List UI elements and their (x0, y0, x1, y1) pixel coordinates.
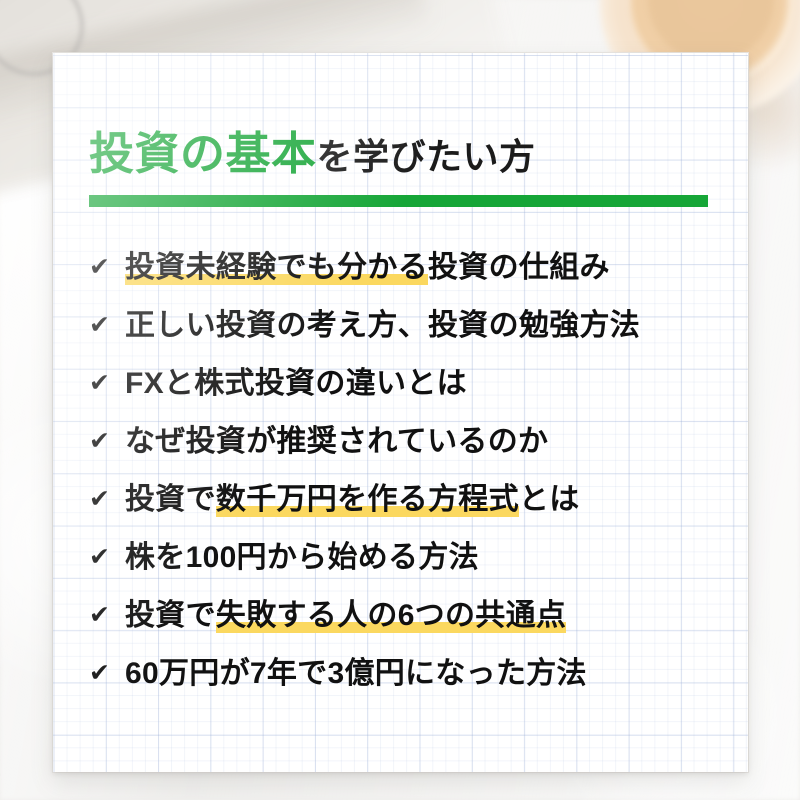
plain-text: FXと株式投資の違いとは (125, 367, 467, 400)
list-item: ✔60万円が7年で3億円になった方法 (89, 645, 719, 703)
list-item: ✔FXと株式投資の違いとは (89, 355, 719, 413)
grid-paper-card: 投資の基本を学びたい方 ✔投資未経験でも分かる投資の仕組み✔正しい投資の考え方、… (53, 53, 748, 772)
plain-text: 投資で (125, 599, 216, 632)
list-item-label: 株を100円から始める方法 (125, 541, 479, 576)
list-item: ✔投資で数千万円を作る方程式とは (89, 471, 719, 529)
page-title-rest-text: を学びたい方 (317, 136, 536, 177)
check-icon: ✔ (89, 371, 119, 396)
highlighted-text: 数千万円を作る方程式 (216, 483, 519, 517)
list-item: ✔投資未経験でも分かる投資の仕組み (89, 239, 719, 297)
screenshot-stage: 投資の基本を学びたい方 ✔投資未経験でも分かる投資の仕組み✔正しい投資の考え方、… (0, 0, 800, 800)
page-title-highlight-text: 投資の基本 (89, 128, 317, 179)
list-item-label: 投資未経験でも分かる投資の仕組み (125, 251, 610, 286)
list-item-label: 投資で数千万円を作る方程式とは (125, 483, 580, 518)
plain-text: なぜ投資が推奨されているのか (125, 425, 548, 458)
plain-text: 投資の仕組み (428, 251, 610, 284)
highlighted-text: 投資未経験でも分かる (125, 251, 428, 285)
list-item-label: 投資で失敗する人の6つの共通点 (125, 599, 566, 634)
plain-text: 60万円が7年で3億円になった方法 (125, 657, 587, 690)
plain-text: とは (519, 483, 580, 516)
check-icon: ✔ (89, 313, 119, 338)
list-item: ✔正しい投資の考え方、投資の勉強方法 (89, 297, 719, 355)
plain-text: 株を100円から始める方法 (125, 541, 479, 574)
title-underline-bar (89, 195, 708, 207)
list-item: ✔なぜ投資が推奨されているのか (89, 413, 719, 471)
plain-text: 投資で (125, 483, 216, 516)
check-icon: ✔ (89, 429, 119, 454)
check-icon: ✔ (89, 545, 119, 570)
page-title: 投資の基本を学びたい方 (89, 131, 536, 176)
list-item: ✔株を100円から始める方法 (89, 529, 719, 587)
check-icon: ✔ (89, 661, 119, 686)
check-icon: ✔ (89, 487, 119, 512)
list-item-label: なぜ投資が推奨されているのか (125, 425, 548, 460)
list-item-label: FXと株式投資の違いとは (125, 367, 467, 402)
list-item-label: 正しい投資の考え方、投資の勉強方法 (125, 309, 640, 344)
check-icon: ✔ (89, 603, 119, 628)
list-item-label: 60万円が7年で3億円になった方法 (125, 657, 587, 692)
benefit-list: ✔投資未経験でも分かる投資の仕組み✔正しい投資の考え方、投資の勉強方法✔FXと株… (89, 239, 719, 703)
list-item: ✔投資で失敗する人の6つの共通点 (89, 587, 719, 645)
highlighted-text: 失敗する人の6つの共通点 (216, 599, 566, 633)
card-content: 投資の基本を学びたい方 ✔投資未経験でも分かる投資の仕組み✔正しい投資の考え方、… (53, 53, 748, 772)
plain-text: 正しい投資の考え方、投資の勉強方法 (125, 309, 640, 342)
check-icon: ✔ (89, 255, 119, 280)
